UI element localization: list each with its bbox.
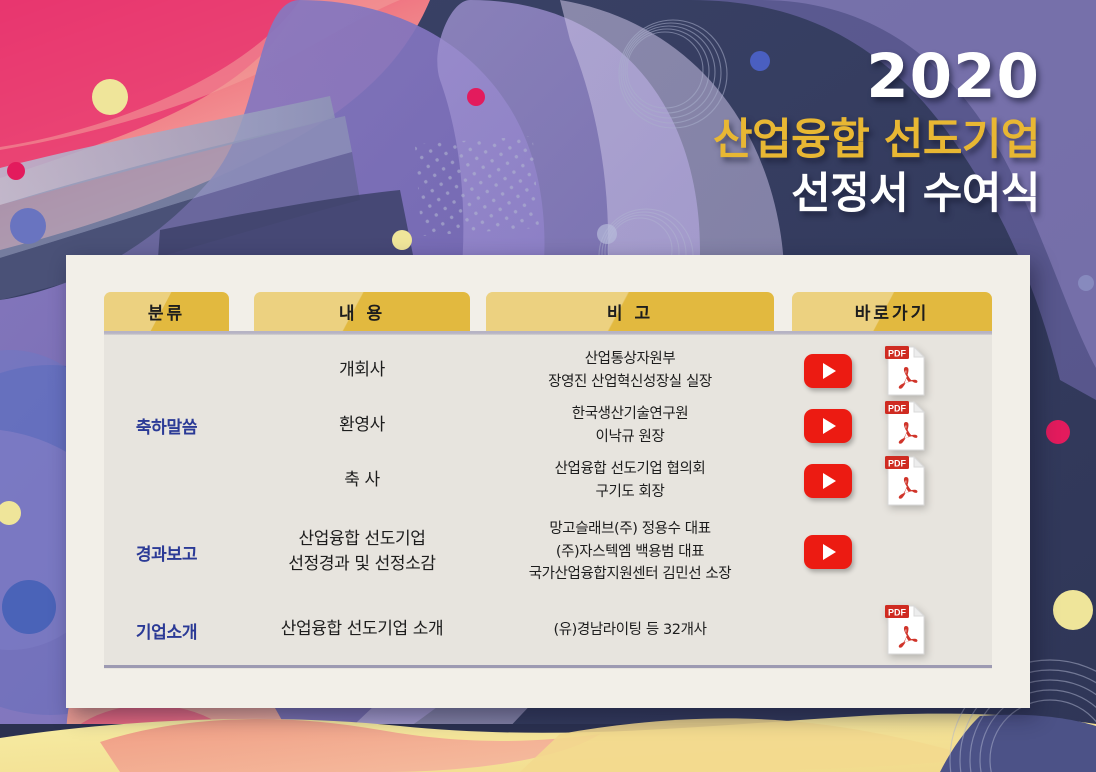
- content-line: 선정경과 및 선정소감: [288, 554, 435, 574]
- content-cell: 개회사: [254, 343, 470, 398]
- shortcut-cell: PDF: [792, 398, 992, 453]
- content-line: 산업융합 선도기업: [299, 529, 426, 549]
- shortcut-links: PDF: [792, 453, 992, 508]
- youtube-play-icon[interactable]: [804, 409, 852, 443]
- title-year: 2020: [713, 46, 1040, 107]
- content-cell: 산업융합 선도기업 소개: [254, 600, 470, 660]
- note-line: (주)자스텍엠 백용범 대표: [556, 544, 704, 560]
- note-line: 이낙규 원장: [596, 429, 665, 445]
- note-text: 산업융합 선도기업 협의회 구기도 회장: [555, 458, 706, 503]
- table-header-row: 분류 내 용 비 고 바로가기: [104, 292, 992, 331]
- note-line: 국가산업융합지원센터 김민선 소장: [529, 566, 732, 582]
- table-header-content: 내 용: [254, 292, 470, 331]
- content-cell: 산업융합 선도기업 선정경과 및 선정소감: [254, 511, 470, 593]
- youtube-play-icon[interactable]: [804, 535, 852, 569]
- shortcut-cell: PDF: [792, 343, 992, 398]
- content-cell: 환영사: [254, 398, 470, 453]
- table-row: 환영사 한국생산기술연구원 이낙규 원장 PDF: [104, 398, 992, 453]
- title-line-3: 선정서 수여식: [713, 168, 1040, 220]
- shortcut-links: [792, 511, 992, 593]
- presentation-slide: 2020 산업융합 선도기업 선정서 수여식 분류 내 용 비 고 바로가기: [0, 0, 1096, 772]
- note-line: 산업융합 선도기업 협의회: [555, 461, 706, 477]
- slide-title: 2020 산업융합 선도기업 선정서 수여식: [713, 46, 1040, 221]
- youtube-play-icon[interactable]: [804, 464, 852, 498]
- note-line: 장영진 산업혁신성장실 실장: [548, 374, 712, 390]
- content-text: 환영사: [339, 413, 385, 439]
- note-cell: 한국생산기술연구원 이낙규 원장: [486, 398, 774, 453]
- note-cell: 산업융합 선도기업 협의회 구기도 회장: [486, 453, 774, 508]
- svg-text:PDF: PDF: [888, 458, 907, 468]
- shortcut-cell: PDF: [792, 453, 992, 508]
- table-header-shortcut: 바로가기: [792, 292, 992, 331]
- shortcut-cell: [792, 511, 992, 593]
- note-line: 구기도 회장: [596, 484, 665, 500]
- category-cell-progress: 경과보고: [104, 511, 229, 593]
- table-header-category: 분류: [104, 292, 229, 331]
- note-line: 산업통상자원부: [585, 351, 676, 367]
- category-label: 경과보고: [136, 540, 197, 565]
- note-line: 한국생산기술연구원: [572, 406, 688, 422]
- note-cell: 망고슬래브(주) 정용수 대표 (주)자스텍엠 백용범 대표 국가산업융합지원센…: [486, 511, 774, 593]
- header-label-shortcut: 바로가기: [855, 299, 930, 324]
- content-cell: 축 사: [254, 453, 470, 508]
- table-row: 개회사 산업통상자원부 장영진 산업혁신성장실 실장 PDF: [104, 343, 992, 398]
- svg-text:PDF: PDF: [888, 403, 907, 413]
- note-line: 망고슬래브(주) 정용수 대표: [549, 521, 710, 537]
- header-label-note: 비 고: [607, 299, 653, 324]
- shortcut-links: PDF: [792, 398, 992, 453]
- header-divider: [104, 331, 992, 335]
- note-text: 망고슬래브(주) 정용수 대표 (주)자스텍엠 백용범 대표 국가산업융합지원센…: [529, 518, 732, 585]
- header-label-content: 내 용: [339, 299, 385, 324]
- shortcut-links: PDF: [792, 343, 992, 398]
- note-cell: (유)경남라이팅 등 32개사: [486, 600, 774, 660]
- pdf-file-icon[interactable]: PDF: [884, 455, 928, 507]
- title-line-2: 산업융합 선도기업: [713, 114, 1040, 166]
- content-text: 개회사: [339, 358, 385, 384]
- shortcut-links: PDF: [792, 600, 992, 660]
- shortcut-cell: PDF: [792, 600, 992, 660]
- category-cell-company: 기업소개: [104, 600, 229, 660]
- content-text: 산업융합 선도기업 선정경과 및 선정소감: [288, 527, 435, 578]
- table-row: 기업소개 산업융합 선도기업 소개 (유)경남라이팅 등 32개사 PDF: [104, 600, 992, 660]
- table-bottom-divider: [104, 665, 992, 668]
- pdf-file-icon[interactable]: PDF: [884, 400, 928, 452]
- note-cell: 산업통상자원부 장영진 산업혁신성장실 실장: [486, 343, 774, 398]
- svg-text:PDF: PDF: [888, 348, 907, 358]
- youtube-play-icon[interactable]: [804, 354, 852, 388]
- content-text: 산업융합 선도기업 소개: [281, 617, 443, 643]
- program-table-card: 분류 내 용 비 고 바로가기 축하말씀 개회사: [66, 255, 1030, 708]
- category-label: 기업소개: [136, 618, 197, 643]
- pdf-file-icon[interactable]: PDF: [884, 345, 928, 397]
- table-row: 경과보고 산업융합 선도기업 선정경과 및 선정소감 망고슬래브(주) 정용수 …: [104, 511, 992, 593]
- table-row: 축 사 산업융합 선도기업 협의회 구기도 회장 PDF: [104, 453, 992, 508]
- note-text: 한국생산기술연구원 이낙규 원장: [572, 403, 688, 448]
- table-header-note: 비 고: [486, 292, 774, 331]
- content-text: 축 사: [344, 468, 379, 494]
- pdf-file-icon[interactable]: PDF: [884, 604, 928, 656]
- note-text: 산업통상자원부 장영진 산업혁신성장실 실장: [548, 348, 712, 393]
- header-label-category: 분류: [148, 299, 185, 324]
- note-text: (유)경남라이팅 등 32개사: [553, 619, 706, 641]
- svg-text:PDF: PDF: [888, 607, 907, 617]
